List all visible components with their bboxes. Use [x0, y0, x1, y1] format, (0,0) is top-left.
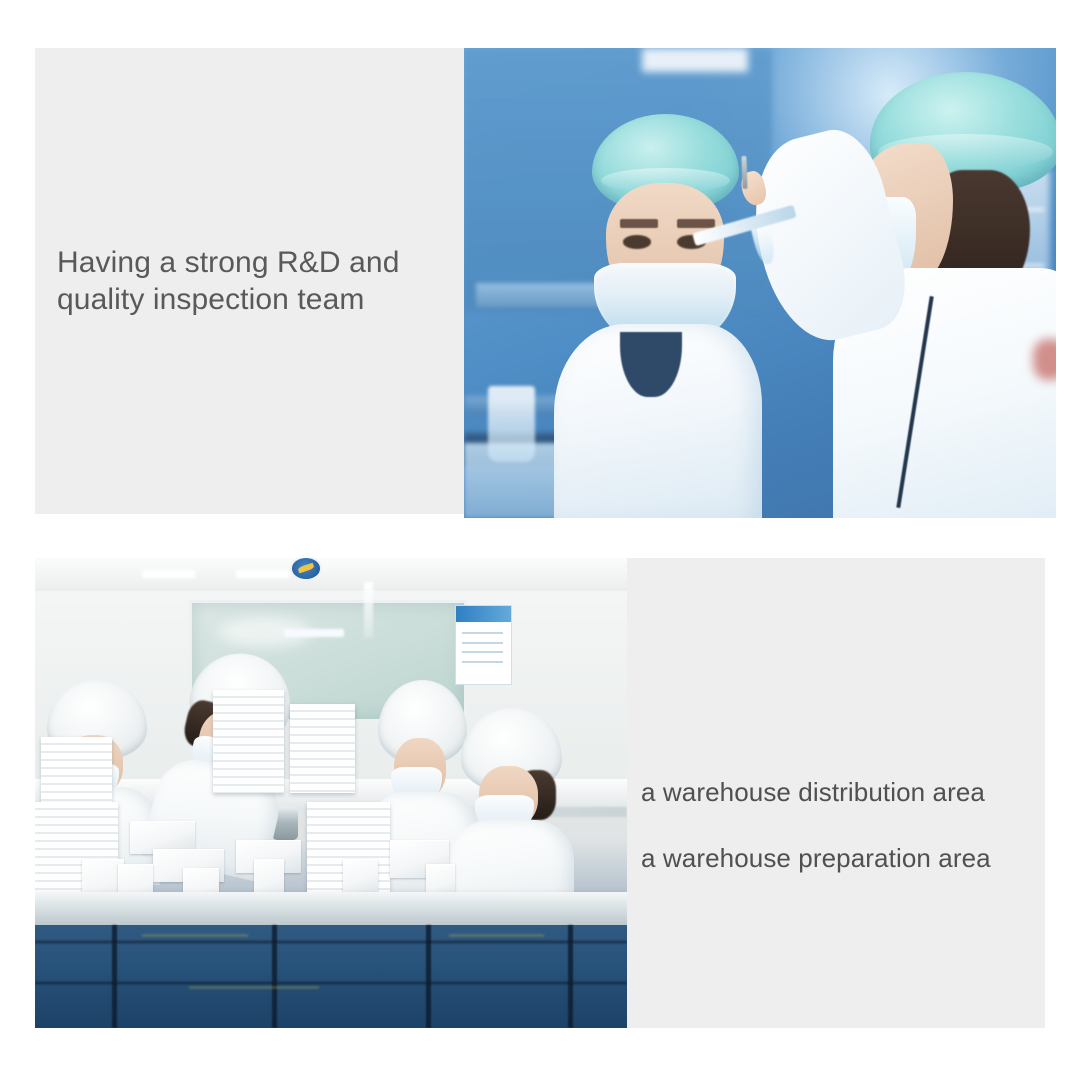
table-leg: [112, 925, 117, 1028]
carton-stack: [290, 704, 355, 793]
ceiling-light: [142, 570, 195, 578]
cleanroom-worker: [461, 708, 562, 915]
carton-stack: [213, 690, 284, 793]
poster-canvas: Having a strong R&D and quality inspecti…: [0, 0, 1080, 1080]
sign-header-band: [456, 606, 510, 622]
table-frame-bar: [35, 982, 627, 984]
top-caption-panel: Having a strong R&D and quality inspecti…: [35, 48, 464, 514]
window-interior-light: [284, 629, 344, 637]
cleanroom-ceiling: [35, 558, 627, 591]
lab-scene: [464, 48, 1056, 518]
lab-red-equipment-blur: [1033, 339, 1056, 379]
table-leg: [272, 925, 277, 1028]
bottom-section: a warehouse distribution area a warehous…: [35, 558, 1045, 1028]
sign-text-line: [462, 661, 503, 663]
bottom-caption-line-2: a warehouse preparation area: [641, 842, 1045, 875]
sign-text-line: [462, 651, 503, 653]
technician-profile: [778, 72, 1056, 519]
cleanroom-scene: [35, 558, 627, 1028]
warehouse-packaging-cleanroom-photo: [35, 558, 627, 1028]
table-leg: [426, 925, 431, 1028]
wall-notice-sign: [455, 605, 511, 685]
hanging-fixture: [364, 582, 373, 638]
floor-marking: [449, 935, 544, 936]
table-leg: [568, 925, 573, 1028]
technician-eyebrow: [677, 219, 715, 228]
lab-ceiling-light: [642, 48, 749, 72]
top-section: Having a strong R&D and quality inspecti…: [35, 48, 1056, 518]
lab-glassware-beaker: [488, 386, 535, 461]
bottom-caption-block: a warehouse distribution area a warehous…: [641, 743, 1045, 908]
bottom-caption-line-1: a warehouse distribution area: [641, 776, 1045, 809]
cleanroom-floor: [35, 925, 627, 1028]
sign-text-line: [462, 632, 503, 634]
sign-text-line: [462, 642, 503, 644]
ceiling-light: [236, 570, 289, 578]
technician-eye: [623, 235, 651, 249]
company-logo-badge: [290, 558, 322, 581]
table-frame-bar: [35, 941, 627, 943]
stainless-steel-table: [35, 892, 627, 927]
floor-marking: [142, 935, 249, 936]
floor-marking: [189, 987, 319, 988]
bottom-caption-panel: a warehouse distribution area a warehous…: [627, 558, 1045, 1028]
top-caption-text: Having a strong R&D and quality inspecti…: [57, 244, 457, 318]
rd-quality-inspection-lab-photo: [464, 48, 1056, 518]
technician-eyebrow: [620, 219, 658, 228]
